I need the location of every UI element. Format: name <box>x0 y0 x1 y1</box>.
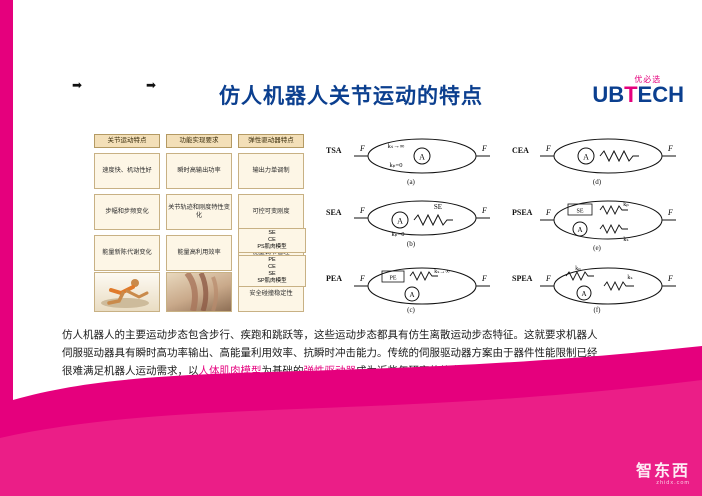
svg-text:SE: SE <box>576 209 583 215</box>
muscle-anatomy-photo <box>166 272 232 312</box>
svg-text:A: A <box>583 153 589 162</box>
table-cell: 可控可变刚度 <box>238 194 304 230</box>
svg-text:kₛ→∞: kₛ→∞ <box>388 143 405 150</box>
svg-text:F: F <box>359 274 365 283</box>
schematic-caption: (b) <box>326 240 496 248</box>
table-cell: 瞬时高输出功率 <box>166 153 232 189</box>
schematic-label: SPEA <box>512 274 532 283</box>
schematic-label: PSEA <box>512 208 532 217</box>
column-header: 弹性驱动器特点 <box>238 134 304 148</box>
schematic-caption: (a) <box>326 178 496 186</box>
table-cell: 步幅和步频变化 <box>94 194 160 230</box>
svg-text:SE: SE <box>434 203 442 211</box>
svg-text:kₛ: kₛ <box>627 275 632 281</box>
schematic-tsa: TSA A kₛ→∞ kₚ=0 F F (a) <box>326 132 496 190</box>
svg-text:A: A <box>581 290 586 298</box>
svg-text:F: F <box>667 144 673 153</box>
model-caption: SP肌肉模型 <box>240 278 304 285</box>
svg-text:F: F <box>359 144 365 153</box>
svg-text:A: A <box>577 226 582 234</box>
schematic-label: CEA <box>512 146 529 155</box>
watermark-url: zhidx.com <box>636 480 690 486</box>
svg-text:F: F <box>481 144 487 153</box>
athlete-photo <box>94 272 160 312</box>
table-cell: 输出力单调制 <box>238 153 304 189</box>
schematic-cea: CEA A F F (d) <box>512 132 682 190</box>
model-label: SE <box>240 271 304 278</box>
column-header: 功能实现要求 <box>166 134 232 148</box>
table-cell: 关节轨迹和刚度特性变化 <box>166 194 232 230</box>
svg-text:F: F <box>545 208 551 217</box>
svg-text:kₛ: kₛ <box>623 237 628 243</box>
column-header: 关节运动特点 <box>94 134 160 148</box>
table-cell: 能量高利用效率 <box>166 235 232 271</box>
arrow-right-icon: ➡ <box>72 78 82 92</box>
schematic-pea: PEA PE kₛ→∞ A F F (c) <box>326 260 496 318</box>
watermark-title: 智东西 <box>636 463 690 480</box>
table-cell: 能量新陈代谢变化 <box>94 235 160 271</box>
brand-logo: 优必选 UBTECH <box>592 75 684 106</box>
actuator-schematics-panel: TSA A kₛ→∞ kₚ=0 F F (a) CEA A F F (d) S <box>326 132 686 318</box>
schematic-caption: (c) <box>326 306 496 314</box>
model-label: PE <box>240 257 304 264</box>
watermark: 智东西 zhidx.com <box>636 463 690 486</box>
schematic-caption: (f) <box>512 306 682 314</box>
svg-text:kₚ=0: kₚ=0 <box>392 231 405 238</box>
schematic-sea: SEA A SE kₚ=0 F F (b) <box>326 194 496 252</box>
svg-text:A: A <box>397 217 403 226</box>
table-cell: 速度快、机动性好 <box>94 153 160 189</box>
muscle-model-diagrams: SE CE PS肌肉模型 PE CE SE SP肌肉模型 <box>238 228 306 287</box>
schematic-caption: (d) <box>512 178 682 186</box>
schematic-psea: PSEA SE A kₚ kₛ F F (e) <box>512 194 682 252</box>
svg-text:A: A <box>419 153 425 162</box>
svg-text:F: F <box>481 274 487 283</box>
svg-text:F: F <box>481 206 487 215</box>
svg-text:kₚ: kₚ <box>575 266 581 272</box>
svg-text:kₚ=0: kₚ=0 <box>390 162 403 169</box>
schematic-label: PEA <box>326 274 342 283</box>
photo-row <box>94 272 232 312</box>
model-label: CE <box>240 237 304 244</box>
schematic-caption: (e) <box>512 244 682 252</box>
bottom-decoration <box>0 346 702 496</box>
svg-text:F: F <box>667 208 673 217</box>
model-label: SE <box>240 230 304 237</box>
svg-text:F: F <box>545 144 551 153</box>
svg-text:F: F <box>359 206 365 215</box>
paragraph-line-1: 仿人机器人的主要运动步态包含步行、疾跑和跳跃等，这些运动步态都具有仿生离散运动步… <box>62 326 642 344</box>
schematic-label: TSA <box>326 146 342 155</box>
arrow-right-icon: ➡ <box>146 78 156 92</box>
svg-text:F: F <box>545 274 551 283</box>
model-label: CE <box>240 264 304 271</box>
model-caption: PS肌肉模型 <box>240 244 304 251</box>
schematic-label: SEA <box>326 208 342 217</box>
svg-text:kₚ: kₚ <box>623 202 629 208</box>
svg-text:A: A <box>409 291 414 299</box>
schematic-spea: SPEA kₚ A kₛ F F (f) <box>512 260 682 318</box>
svg-text:PE: PE <box>389 276 396 282</box>
svg-text:F: F <box>667 274 673 283</box>
logo-wordmark: UBTECH <box>592 84 684 106</box>
svg-text:kₛ→∞: kₛ→∞ <box>434 269 450 275</box>
